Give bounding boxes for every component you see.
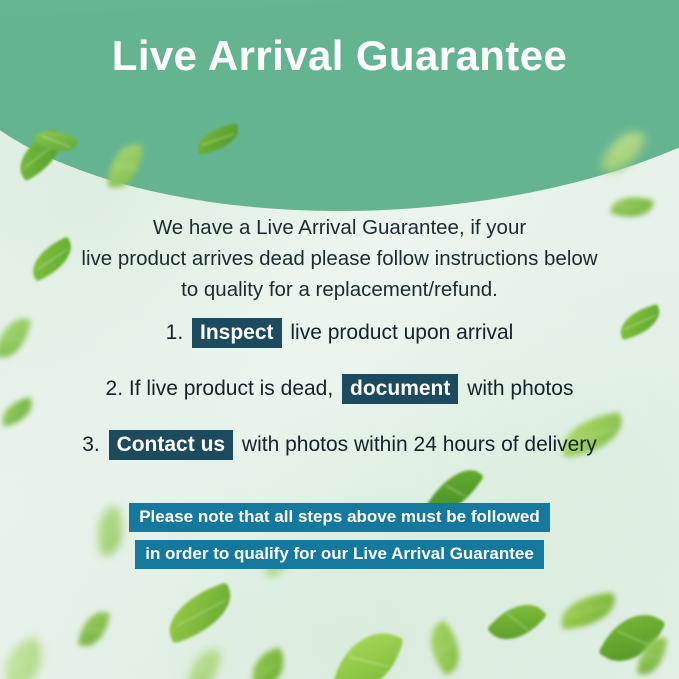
poster-root: Live Arrival Guarantee We have a Live Ar… bbox=[0, 0, 679, 679]
step-3-highlight: Contact us bbox=[109, 430, 234, 460]
step-2-number: 2. bbox=[106, 377, 124, 400]
step-3-number: 3. bbox=[82, 433, 100, 456]
steps-list: 1. Inspect live product upon arrival 2. … bbox=[0, 318, 679, 486]
step-2-after: with photos bbox=[467, 377, 573, 400]
step-3-after: with photos within 24 hours of delivery bbox=[242, 433, 597, 456]
intro-paragraph: We have a Live Arrival Guarantee, if you… bbox=[60, 212, 619, 305]
footer-note: Please note that all steps above must be… bbox=[0, 503, 679, 577]
footer-note-line-2: in order to qualify for our Live Arrival… bbox=[135, 540, 544, 569]
intro-line-3: to quality for a replacement/refund. bbox=[60, 274, 619, 305]
step-item-1: 1. Inspect live product upon arrival bbox=[0, 318, 679, 348]
step-item-3: 3. Contact us with photos within 24 hour… bbox=[0, 430, 679, 460]
footer-note-line-1: Please note that all steps above must be… bbox=[129, 503, 550, 532]
intro-line-1: We have a Live Arrival Guarantee, if you… bbox=[60, 212, 619, 243]
content-area: We have a Live Arrival Guarantee, if you… bbox=[0, 0, 679, 679]
step-2-before: If live product is dead, bbox=[129, 377, 333, 400]
step-item-2: 2. If live product is dead, document wit… bbox=[0, 374, 679, 404]
intro-line-2: live product arrives dead please follow … bbox=[60, 243, 619, 274]
page-title: Live Arrival Guarantee bbox=[0, 30, 679, 82]
step-1-number: 1. bbox=[166, 321, 184, 344]
step-2-highlight: document bbox=[342, 374, 458, 404]
step-1-after: live product upon arrival bbox=[290, 321, 513, 344]
step-1-highlight: Inspect bbox=[192, 318, 282, 348]
